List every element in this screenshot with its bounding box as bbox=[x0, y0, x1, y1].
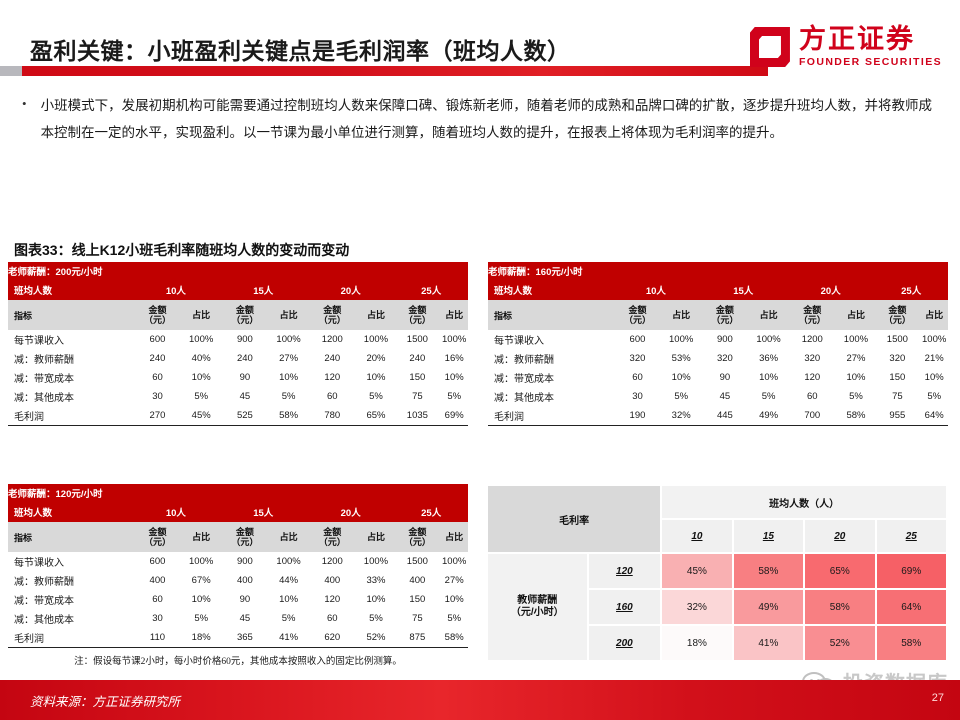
table-cell: 32% bbox=[663, 406, 700, 425]
class-size-value: 10人 bbox=[132, 502, 219, 522]
col-header-amount: 金额（元） bbox=[307, 522, 358, 552]
row-label: 毛利润 bbox=[8, 628, 132, 647]
table-cell: 45 bbox=[220, 609, 271, 628]
table-cell: 270 bbox=[132, 406, 183, 425]
table-cell: 190 bbox=[612, 406, 663, 425]
table-cell: 30 bbox=[132, 609, 183, 628]
table-cell: 53% bbox=[663, 349, 700, 368]
bullet-marker: • bbox=[22, 92, 27, 146]
table-row: 减：教师薪酬32053%32036%32027%32021% bbox=[488, 349, 948, 368]
table-row: 每节课收入600100%900100%1200100%1500100% bbox=[8, 552, 468, 571]
matrix-col-header: 10 bbox=[662, 520, 731, 552]
table-cell: 5% bbox=[440, 609, 468, 628]
row-label: 减：带宽成本 bbox=[488, 368, 612, 387]
table-cell: 100% bbox=[440, 330, 468, 349]
col-header-amount: 金额（元） bbox=[220, 522, 271, 552]
matrix-cell: 65% bbox=[805, 554, 874, 588]
table-cell: 600 bbox=[132, 330, 183, 349]
col-header-ratio: 占比 bbox=[183, 522, 220, 552]
class-size-value: 15人 bbox=[220, 502, 307, 522]
col-header-ratio: 占比 bbox=[663, 300, 700, 330]
col-header-amount: 金额（元） bbox=[700, 300, 751, 330]
table-cell: 60 bbox=[787, 387, 838, 406]
class-size-value: 10人 bbox=[612, 280, 699, 300]
col-header-ratio: 占比 bbox=[183, 300, 220, 330]
row-label: 减：其他成本 bbox=[8, 609, 132, 628]
table-row: 毛利润11018%36541%62052%87558% bbox=[8, 628, 468, 647]
table-cell: 58% bbox=[270, 406, 307, 425]
class-size-value: 20人 bbox=[307, 502, 394, 522]
table-cell: 445 bbox=[700, 406, 751, 425]
table-cell: 30 bbox=[132, 387, 183, 406]
indicator-label: 指标 bbox=[8, 522, 132, 552]
table-cell: 150 bbox=[394, 590, 440, 609]
table-cell: 90 bbox=[700, 368, 751, 387]
table-cell: 5% bbox=[270, 387, 307, 406]
table-cell: 45 bbox=[220, 387, 271, 406]
table-salary-120: 老师薪酬：120元/小时班均人数10人15人20人25人指标金额（元）占比金额（… bbox=[8, 484, 468, 667]
col-header-ratio: 占比 bbox=[358, 300, 395, 330]
matrix-cell: 18% bbox=[662, 626, 731, 660]
table-cell: 1200 bbox=[787, 330, 838, 349]
slide-footer: 资料来源：方正证券研究所 27 bbox=[0, 680, 960, 720]
table-cell: 5% bbox=[663, 387, 700, 406]
matrix-cell: 58% bbox=[734, 554, 803, 588]
class-size-label: 班均人数 bbox=[8, 280, 132, 300]
table-row: 减：带宽成本6010%9010%12010%15010% bbox=[8, 368, 468, 387]
col-header-ratio: 占比 bbox=[358, 522, 395, 552]
table-cell: 700 bbox=[787, 406, 838, 425]
class-size-label: 班均人数 bbox=[8, 502, 132, 522]
table-cell: 41% bbox=[270, 628, 307, 647]
table-cell: 240 bbox=[307, 349, 358, 368]
table-cell: 110 bbox=[132, 628, 183, 647]
table-subheader-row: 指标金额（元）占比金额（元）占比金额（元）占比金额（元）占比 bbox=[8, 300, 468, 330]
header-rule-stub bbox=[0, 66, 22, 76]
table-cell: 10% bbox=[838, 368, 875, 387]
col-header-amount: 金额（元） bbox=[132, 300, 183, 330]
row-label: 减：教师薪酬 bbox=[8, 349, 132, 368]
table-row: 每节课收入600100%900100%1200100%1500100% bbox=[8, 330, 468, 349]
table-cell: 10% bbox=[183, 368, 220, 387]
table-cell: 1200 bbox=[307, 552, 358, 571]
table-salary-header-row: 老师薪酬：160元/小时 bbox=[488, 262, 948, 280]
figure-note: 注：假设每节课2小时，每小时价格60元，其他成本按照收入的固定比例测算。 bbox=[8, 648, 468, 667]
col-header-amount: 金额（元） bbox=[132, 522, 183, 552]
header-rule-bar bbox=[22, 66, 768, 76]
table-cell: 100% bbox=[838, 330, 875, 349]
table-cell: 320 bbox=[612, 349, 663, 368]
table-cell: 100% bbox=[358, 552, 395, 571]
matrix-row-header: 200 bbox=[589, 626, 661, 660]
table-cell: 45% bbox=[183, 406, 220, 425]
table-cell: 69% bbox=[440, 406, 468, 425]
table-cell: 5% bbox=[183, 387, 220, 406]
table-classsize-row: 班均人数10人15人20人25人 bbox=[8, 502, 468, 522]
table-cell: 45 bbox=[700, 387, 751, 406]
col-header-amount: 金额（元） bbox=[220, 300, 271, 330]
table-cell: 240 bbox=[394, 349, 440, 368]
table-cell: 320 bbox=[787, 349, 838, 368]
table-cell: 100% bbox=[358, 330, 395, 349]
table-cell: 27% bbox=[838, 349, 875, 368]
table-cell: 75 bbox=[394, 387, 440, 406]
table-salary-200: 老师薪酬：200元/小时班均人数10人15人20人25人指标金额（元）占比金额（… bbox=[8, 262, 468, 426]
table-row: 减：带宽成本6010%9010%12010%15010% bbox=[8, 590, 468, 609]
table-cell: 30 bbox=[612, 387, 663, 406]
row-label: 毛利润 bbox=[488, 406, 612, 425]
table-classsize-row: 班均人数10人15人20人25人 bbox=[8, 280, 468, 300]
table-row: 毛利润19032%44549%70058%95564% bbox=[488, 406, 948, 425]
bullet-body-text: 小班模式下，发展初期机构可能需要通过控制班均人数来保障口碑、锻炼新老师，随着老师… bbox=[41, 92, 932, 146]
col-header-amount: 金额（元） bbox=[394, 300, 440, 330]
table-cell: 10% bbox=[358, 368, 395, 387]
logo-mark-icon bbox=[750, 27, 790, 67]
col-header-ratio: 占比 bbox=[440, 522, 468, 552]
table-cell: 40% bbox=[183, 349, 220, 368]
table-cell: 320 bbox=[700, 349, 751, 368]
matrix-header-row-1: 毛利率班均人数（人） bbox=[488, 486, 946, 518]
matrix-cell: 52% bbox=[805, 626, 874, 660]
table-subheader-row: 指标金额（元）占比金额（元）占比金额（元）占比金额（元）占比 bbox=[8, 522, 468, 552]
table-cell: 100% bbox=[183, 552, 220, 571]
salary-title: 老师薪酬：160元/小时 bbox=[488, 262, 948, 280]
row-label: 减：教师薪酬 bbox=[488, 349, 612, 368]
table-cell: 49% bbox=[750, 406, 787, 425]
col-header-ratio: 占比 bbox=[920, 300, 948, 330]
table-cell: 900 bbox=[700, 330, 751, 349]
table-cell: 18% bbox=[183, 628, 220, 647]
table-cell: 365 bbox=[220, 628, 271, 647]
salary-title: 老师薪酬：120元/小时 bbox=[8, 484, 468, 502]
figure-caption: 图表33：线上K12小班毛利率随班均人数的变动而变动 bbox=[14, 240, 349, 260]
row-label: 减：带宽成本 bbox=[8, 590, 132, 609]
table-cell: 67% bbox=[183, 571, 220, 590]
table-cell: 10% bbox=[270, 368, 307, 387]
table-row: 减：带宽成本6010%9010%12010%15010% bbox=[488, 368, 948, 387]
class-size-value: 20人 bbox=[307, 280, 394, 300]
table-cell: 20% bbox=[358, 349, 395, 368]
table-cell: 75 bbox=[394, 609, 440, 628]
table-cell: 60 bbox=[132, 368, 183, 387]
table-cell: 150 bbox=[874, 368, 920, 387]
header-rule bbox=[0, 66, 768, 76]
table-cell: 27% bbox=[440, 571, 468, 590]
table-cell: 16% bbox=[440, 349, 468, 368]
row-label: 每节课收入 bbox=[488, 330, 612, 349]
table-cell: 75 bbox=[874, 387, 920, 406]
row-label: 每节课收入 bbox=[8, 552, 132, 571]
matrix-cell: 45% bbox=[662, 554, 731, 588]
table-cell: 100% bbox=[440, 552, 468, 571]
class-size-value: 10人 bbox=[132, 280, 219, 300]
logo-text-en: FOUNDER SECURITIES bbox=[799, 56, 942, 68]
table-cell: 900 bbox=[220, 330, 271, 349]
table-cell: 1500 bbox=[394, 552, 440, 571]
table-salary-header-row: 老师薪酬：120元/小时 bbox=[8, 484, 468, 502]
source-text: 资料来源：方正证券研究所 bbox=[30, 691, 180, 710]
table-cell: 10% bbox=[663, 368, 700, 387]
table-cell: 100% bbox=[270, 552, 307, 571]
matrix-x-axis-label: 班均人数（人） bbox=[662, 486, 946, 518]
table-row: 每节课收入600100%900100%1200100%1500100% bbox=[488, 330, 948, 349]
matrix-cell: 69% bbox=[877, 554, 946, 588]
matrix-cell: 32% bbox=[662, 590, 731, 624]
table-cell: 320 bbox=[874, 349, 920, 368]
table-cell: 1035 bbox=[394, 406, 440, 425]
table-cell: 10% bbox=[750, 368, 787, 387]
table-cell: 64% bbox=[920, 406, 948, 425]
class-size-value: 15人 bbox=[700, 280, 787, 300]
table-row: 减：教师薪酬40067%40044%40033%40027% bbox=[8, 571, 468, 590]
table-cell: 780 bbox=[307, 406, 358, 425]
table-cell: 400 bbox=[394, 571, 440, 590]
class-size-value: 20人 bbox=[787, 280, 874, 300]
table-cell: 600 bbox=[612, 330, 663, 349]
table-cell: 60 bbox=[307, 387, 358, 406]
matrix-corner-title: 毛利率 bbox=[488, 486, 660, 552]
table-cell: 44% bbox=[270, 571, 307, 590]
table-cell: 60 bbox=[307, 609, 358, 628]
indicator-label: 指标 bbox=[8, 300, 132, 330]
table-row: 减：教师薪酬24040%24027%24020%24016% bbox=[8, 349, 468, 368]
row-label: 减：教师薪酬 bbox=[8, 571, 132, 590]
matrix-row-header: 160 bbox=[589, 590, 661, 624]
table-cell: 58% bbox=[838, 406, 875, 425]
table-cell: 1200 bbox=[307, 330, 358, 349]
table-cell: 5% bbox=[358, 387, 395, 406]
col-header-ratio: 占比 bbox=[270, 522, 307, 552]
matrix-row-header: 120 bbox=[589, 554, 661, 588]
table-cell: 27% bbox=[270, 349, 307, 368]
table-cell: 900 bbox=[220, 552, 271, 571]
table-cell: 5% bbox=[358, 609, 395, 628]
table-cell: 58% bbox=[440, 628, 468, 647]
table-cell: 120 bbox=[307, 368, 358, 387]
indicator-label: 指标 bbox=[488, 300, 612, 330]
table-cell: 36% bbox=[750, 349, 787, 368]
matrix-cell: 41% bbox=[734, 626, 803, 660]
founder-securities-logo: 方正证券 FOUNDER SECURITIES bbox=[750, 26, 942, 68]
table-cell: 10% bbox=[358, 590, 395, 609]
bullet-paragraph: • 小班模式下，发展初期机构可能需要通过控制班均人数来保障口碑、锻炼新老师，随着… bbox=[22, 92, 932, 146]
col-header-ratio: 占比 bbox=[838, 300, 875, 330]
table-cell: 1500 bbox=[394, 330, 440, 349]
col-header-ratio: 占比 bbox=[750, 300, 787, 330]
table-salary-header-row: 老师薪酬：200元/小时 bbox=[8, 262, 468, 280]
matrix-col-header: 20 bbox=[805, 520, 874, 552]
row-label: 毛利润 bbox=[8, 406, 132, 425]
table-cell: 52% bbox=[358, 628, 395, 647]
table-cell: 400 bbox=[220, 571, 271, 590]
table-salary-160: 老师薪酬：160元/小时班均人数10人15人20人25人指标金额（元）占比金额（… bbox=[488, 262, 948, 426]
page-number: 27 bbox=[932, 692, 944, 704]
table-row: 毛利润27045%52558%78065%103569% bbox=[8, 406, 468, 425]
row-label: 减：其他成本 bbox=[488, 387, 612, 406]
table-cell: 100% bbox=[183, 330, 220, 349]
table-subheader-row: 指标金额（元）占比金额（元）占比金额（元）占比金额（元）占比 bbox=[488, 300, 948, 330]
class-size-value: 15人 bbox=[220, 280, 307, 300]
table-cell: 5% bbox=[270, 609, 307, 628]
slide: 盈利关键：小班盈利关键点是毛利润率（班均人数） 方正证券 FOUNDER SEC… bbox=[0, 0, 960, 720]
table-cell: 100% bbox=[663, 330, 700, 349]
col-header-ratio: 占比 bbox=[440, 300, 468, 330]
table-cell: 33% bbox=[358, 571, 395, 590]
gross-margin-matrix: 毛利率班均人数（人）10152025教师薪酬（元/小时）12045%58%65%… bbox=[486, 484, 948, 660]
table-cell: 10% bbox=[440, 590, 468, 609]
row-label: 每节课收入 bbox=[8, 330, 132, 349]
matrix-col-header: 25 bbox=[877, 520, 946, 552]
table-row: 减：其他成本305%455%605%755% bbox=[8, 387, 468, 406]
table-cell: 120 bbox=[787, 368, 838, 387]
table-cell: 600 bbox=[132, 552, 183, 571]
matrix-data-row: 教师薪酬（元/小时）12045%58%65%69% bbox=[488, 554, 946, 588]
table-cell: 5% bbox=[440, 387, 468, 406]
table-cell: 5% bbox=[183, 609, 220, 628]
table-cell: 150 bbox=[394, 368, 440, 387]
matrix-y-axis-label: 教师薪酬（元/小时） bbox=[488, 554, 587, 660]
class-size-label: 班均人数 bbox=[488, 280, 612, 300]
table-cell: 10% bbox=[183, 590, 220, 609]
table-cell: 400 bbox=[132, 571, 183, 590]
table-cell: 100% bbox=[920, 330, 948, 349]
col-header-amount: 金额（元） bbox=[874, 300, 920, 330]
table-cell: 60 bbox=[612, 368, 663, 387]
table-cell: 120 bbox=[307, 590, 358, 609]
table-cell: 65% bbox=[358, 406, 395, 425]
table-cell: 5% bbox=[920, 387, 948, 406]
row-label: 减：其他成本 bbox=[8, 387, 132, 406]
table-cell: 90 bbox=[220, 590, 271, 609]
col-header-ratio: 占比 bbox=[270, 300, 307, 330]
table-cell: 21% bbox=[920, 349, 948, 368]
matrix-cell: 49% bbox=[734, 590, 803, 624]
table-cell: 400 bbox=[307, 571, 358, 590]
table-cell: 5% bbox=[838, 387, 875, 406]
table-cell: 10% bbox=[920, 368, 948, 387]
matrix-cell: 58% bbox=[877, 626, 946, 660]
logo-text-cn: 方正证券 bbox=[799, 26, 915, 53]
table-cell: 100% bbox=[750, 330, 787, 349]
col-header-amount: 金额（元） bbox=[787, 300, 838, 330]
table-cell: 1500 bbox=[874, 330, 920, 349]
class-size-value: 25人 bbox=[394, 502, 468, 522]
table-cell: 10% bbox=[270, 590, 307, 609]
col-header-amount: 金额（元） bbox=[612, 300, 663, 330]
table-cell: 90 bbox=[220, 368, 271, 387]
col-header-amount: 金额（元） bbox=[394, 522, 440, 552]
table-cell: 620 bbox=[307, 628, 358, 647]
matrix-col-header: 15 bbox=[734, 520, 803, 552]
class-size-value: 25人 bbox=[394, 280, 468, 300]
table-cell: 240 bbox=[132, 349, 183, 368]
table-cell: 240 bbox=[220, 349, 271, 368]
table-cell: 10% bbox=[440, 368, 468, 387]
table-row: 减：其他成本305%455%605%755% bbox=[8, 609, 468, 628]
table-cell: 955 bbox=[874, 406, 920, 425]
salary-title: 老师薪酬：200元/小时 bbox=[8, 262, 468, 280]
table-row: 减：其他成本305%455%605%755% bbox=[488, 387, 948, 406]
matrix-cell: 64% bbox=[877, 590, 946, 624]
page-title: 盈利关键：小班盈利关键点是毛利润率（班均人数） bbox=[30, 32, 571, 66]
table-cell: 5% bbox=[750, 387, 787, 406]
table-cell: 60 bbox=[132, 590, 183, 609]
slide-header: 盈利关键：小班盈利关键点是毛利润率（班均人数） 方正证券 FOUNDER SEC… bbox=[0, 0, 960, 86]
class-size-value: 25人 bbox=[874, 280, 948, 300]
table-cell: 100% bbox=[270, 330, 307, 349]
matrix-cell: 58% bbox=[805, 590, 874, 624]
table-cell: 875 bbox=[394, 628, 440, 647]
table-cell: 525 bbox=[220, 406, 271, 425]
col-header-amount: 金额（元） bbox=[307, 300, 358, 330]
table-classsize-row: 班均人数10人15人20人25人 bbox=[488, 280, 948, 300]
row-label: 减：带宽成本 bbox=[8, 368, 132, 387]
